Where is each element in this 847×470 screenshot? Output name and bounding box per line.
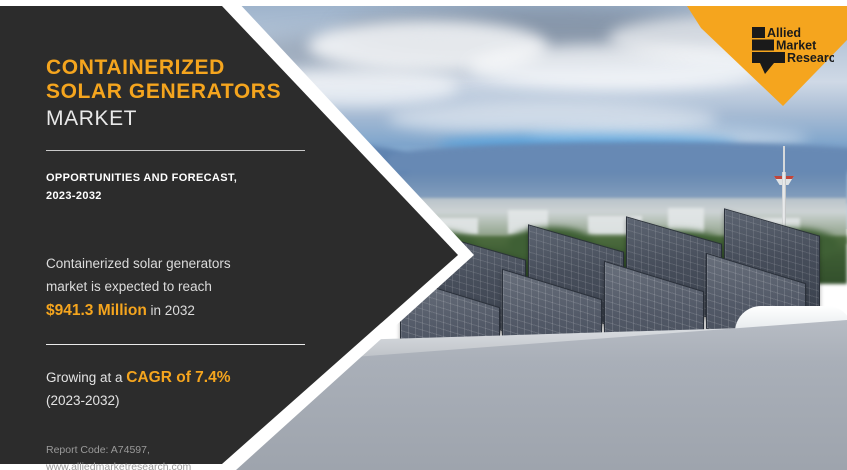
cagr-prefix: Growing at a <box>46 370 126 385</box>
banner-content: CONTAINERIZED SOLAR GENERATORS MARKET OP… <box>46 56 326 470</box>
allied-market-research-logo[interactable]: Allied Market Research <box>752 27 834 75</box>
title-line-3: MARKET <box>46 107 326 131</box>
subheading: OPPORTUNITIES AND FORECAST, 2023-2032 <box>46 170 286 205</box>
market-size-statement: Containerized solar generators market is… <box>46 253 326 323</box>
cagr-statement: Growing at a CAGR of 7.4% (2023-2032) <box>46 365 326 412</box>
market-value-year: in 2032 <box>147 303 195 318</box>
subheading-line-1: OPPORTUNITIES AND FORECAST, <box>46 170 286 188</box>
cagr-period: (2023-2032) <box>46 390 326 412</box>
report-code: Report Code: A74597, <box>46 442 326 459</box>
market-value: $941.3 Million <box>46 302 147 319</box>
stat-lead-line-2: market is expected to reach <box>46 276 326 298</box>
report-website[interactable]: www.alliedmarketresearch.com <box>46 459 326 470</box>
logo-line-3: Research <box>787 51 834 65</box>
stat-value-row: $941.3 Million in 2032 <box>46 298 326 324</box>
subheading-line-2: 2023-2032 <box>46 188 286 206</box>
report-footer: Report Code: A74597, www.alliedmarketres… <box>46 442 326 470</box>
title-line-1: CONTAINERIZED <box>46 56 326 80</box>
divider-top <box>46 150 305 151</box>
market-report-banner: CONTAINERIZED SOLAR GENERATORS MARKET OP… <box>0 0 847 470</box>
stat-lead-line-1: Containerized solar generators <box>46 253 326 275</box>
cagr-row: Growing at a CAGR of 7.4% <box>46 365 326 390</box>
cagr-value: CAGR of 7.4% <box>126 369 230 386</box>
divider-bottom <box>46 344 305 345</box>
title-line-2: SOLAR GENERATORS <box>46 80 326 104</box>
page-title: CONTAINERIZED SOLAR GENERATORS MARKET <box>46 56 326 131</box>
speech-bubble-icon: Allied Market Research <box>752 27 834 75</box>
